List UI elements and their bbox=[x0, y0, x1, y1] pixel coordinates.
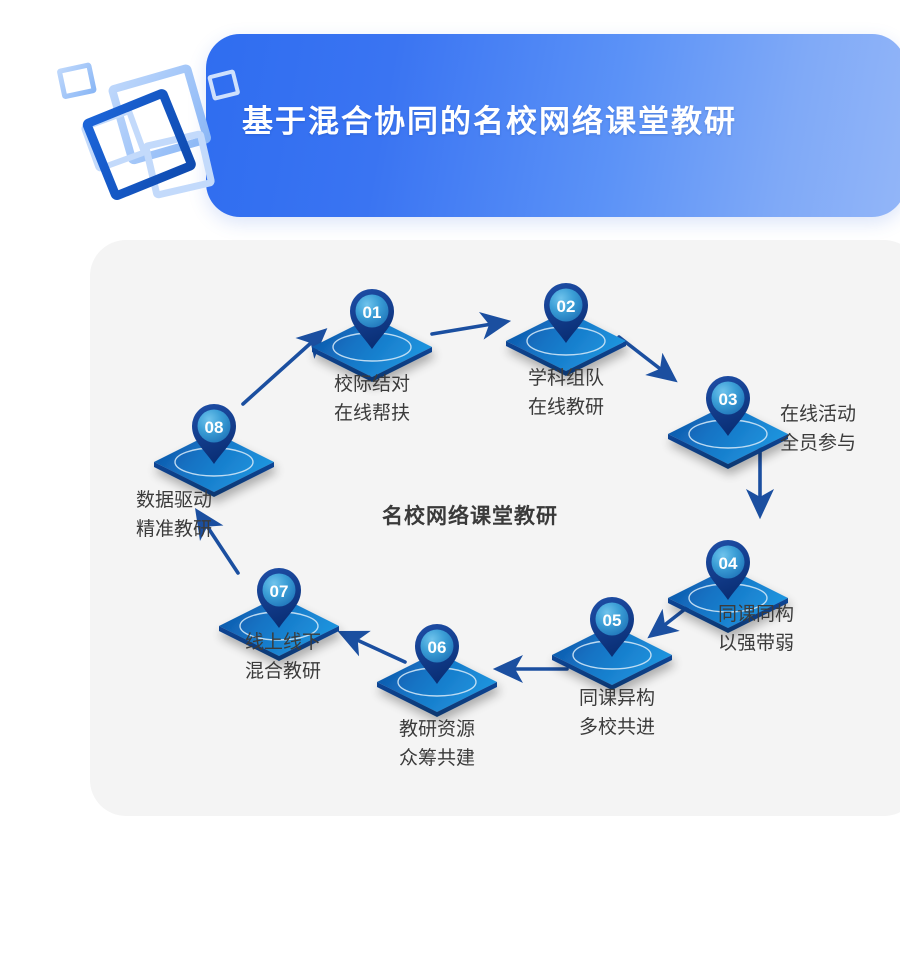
page-title: 基于混合协同的名校网络课堂教研 bbox=[242, 100, 862, 144]
deco-square-mid-pale bbox=[84, 111, 144, 169]
node-01-label-line1: 校际结对 bbox=[334, 374, 410, 395]
node-07-label-line2: 混合教研 bbox=[208, 657, 358, 686]
node-06-label: 教研资源 众筹共建 bbox=[362, 715, 512, 773]
diagram-center-caption: 名校网络课堂教研 bbox=[330, 500, 610, 530]
node-02-label-line2: 在线教研 bbox=[486, 393, 646, 422]
node-05-label: 同课异构 多校共进 bbox=[542, 684, 692, 742]
node-06-label-line1: 教研资源 bbox=[399, 719, 475, 740]
node-07-label-line1: 线上线下 bbox=[245, 632, 321, 653]
node-08-label-line1: 数据驱动 bbox=[136, 490, 212, 511]
node-04-label-line2: 以强带弱 bbox=[718, 629, 848, 658]
node-03-label-line2: 全员参与 bbox=[780, 429, 900, 458]
node-04-label-line1: 同课同构 bbox=[718, 604, 794, 625]
deco-square-large-pale bbox=[112, 68, 207, 161]
deco-square-lower-pale bbox=[146, 134, 212, 195]
node-04-label: 同课同构 以强带弱 bbox=[718, 600, 848, 658]
node-01-label: 校际结对 在线帮扶 bbox=[292, 370, 452, 428]
deco-square-accent bbox=[87, 93, 192, 196]
node-07-label: 线上线下 混合教研 bbox=[208, 628, 358, 686]
node-08-label-line2: 精准教研 bbox=[40, 515, 212, 544]
node-01-label-line2: 在线帮扶 bbox=[292, 399, 452, 428]
deco-square-small-1 bbox=[59, 65, 94, 97]
node-05-label-line2: 多校共进 bbox=[542, 713, 692, 742]
node-06-label-line2: 众筹共建 bbox=[362, 744, 512, 773]
node-03-label-line1: 在线活动 bbox=[780, 404, 856, 425]
node-02-label-line1: 学科组队 bbox=[528, 368, 604, 389]
node-03-label: 在线活动 全员参与 bbox=[780, 400, 900, 458]
node-02-label: 学科组队 在线教研 bbox=[486, 364, 646, 422]
node-08-label: 数据驱动 精准教研 bbox=[40, 486, 212, 544]
node-05-label-line1: 同课异构 bbox=[579, 688, 655, 709]
